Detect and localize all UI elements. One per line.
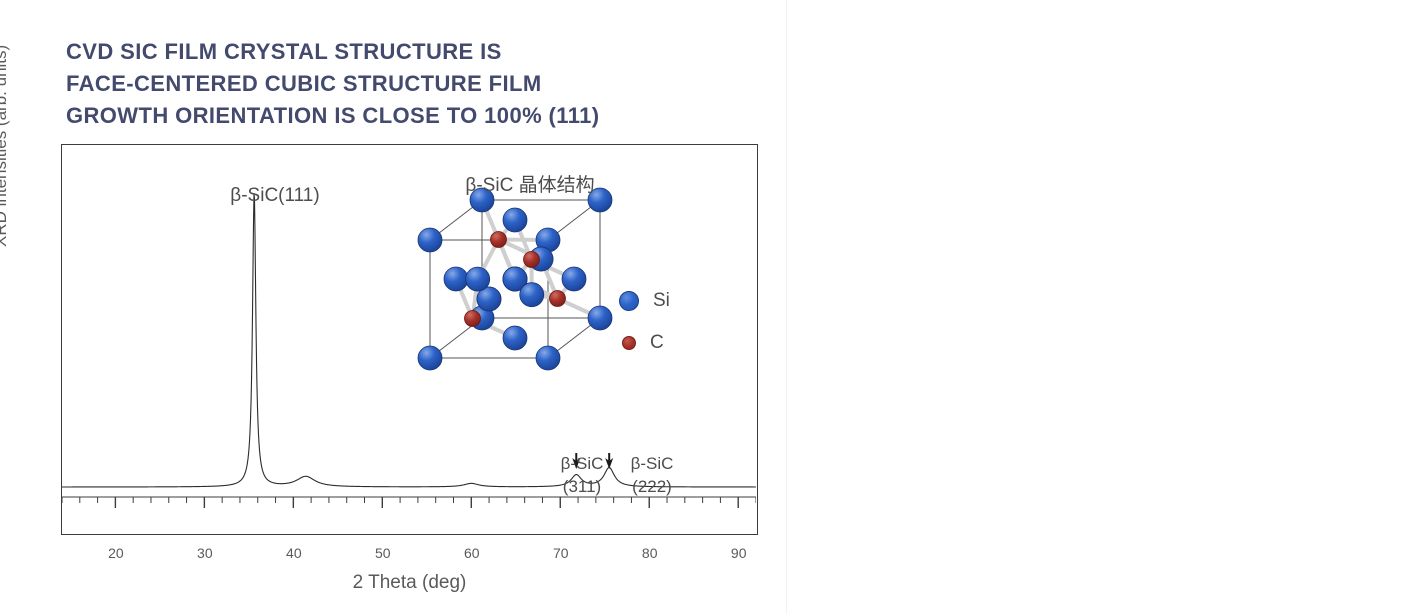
x-tick-70: 70 [553, 545, 569, 561]
c-atom-sphere [524, 252, 540, 268]
si-atom-sphere [520, 283, 544, 307]
left-panel-heading: CVD SIC FILM CRYSTAL STRUCTURE IS FACE-C… [66, 36, 600, 132]
si-atom-sphere [418, 346, 442, 370]
legend-label-c: C [650, 332, 664, 354]
x-tick-40: 40 [286, 545, 302, 561]
x-tick-50: 50 [375, 545, 391, 561]
si-atom-sphere [588, 306, 612, 330]
x-tick-30: 30 [197, 545, 213, 561]
x-tick-60: 60 [464, 545, 480, 561]
legend-row-si: Si [619, 280, 709, 322]
si-atom-sphere [562, 267, 586, 291]
crystal-structure-inset [418, 188, 612, 370]
x-axis-label: 2 Theta (deg) [61, 572, 758, 594]
si-atom-sphere [466, 267, 490, 291]
xrd-axis-ticks [62, 497, 756, 508]
y-axis-label: XRD intensities (arb. units) [0, 0, 11, 247]
si-atom-sphere [418, 228, 442, 252]
legend-label-si: Si [653, 290, 670, 312]
crystal-atom-legend: Si C [619, 280, 709, 364]
si-atom-sphere [536, 346, 560, 370]
peak-annotation-222: β-SiC (222) [610, 452, 694, 498]
x-tick-80: 80 [642, 545, 658, 561]
peak-annotation-111: β-SiC(111) [160, 185, 390, 207]
sem-panel: SEM DATA OF CVD SIC FILM, CRYSTAL SIZE O… [787, 0, 1420, 614]
legend-row-c: C [619, 322, 709, 364]
si-atom-sphere [503, 326, 527, 350]
x-axis-tick-labels: 2030405060708090 [61, 545, 758, 565]
si-atom-icon [619, 291, 639, 311]
si-atom-sphere [503, 208, 527, 232]
x-tick-90: 90 [731, 545, 747, 561]
c-atom-sphere [491, 232, 507, 248]
c-atom-sphere [465, 311, 481, 327]
c-atom-sphere [550, 291, 566, 307]
xrd-panel: CVD SIC FILM CRYSTAL STRUCTURE IS FACE-C… [0, 0, 787, 614]
crystal-structure-title: β-SiC 晶体结构 [400, 170, 660, 197]
si-atom-sphere [444, 267, 468, 291]
x-tick-20: 20 [108, 545, 124, 561]
c-atom-icon [622, 336, 636, 350]
